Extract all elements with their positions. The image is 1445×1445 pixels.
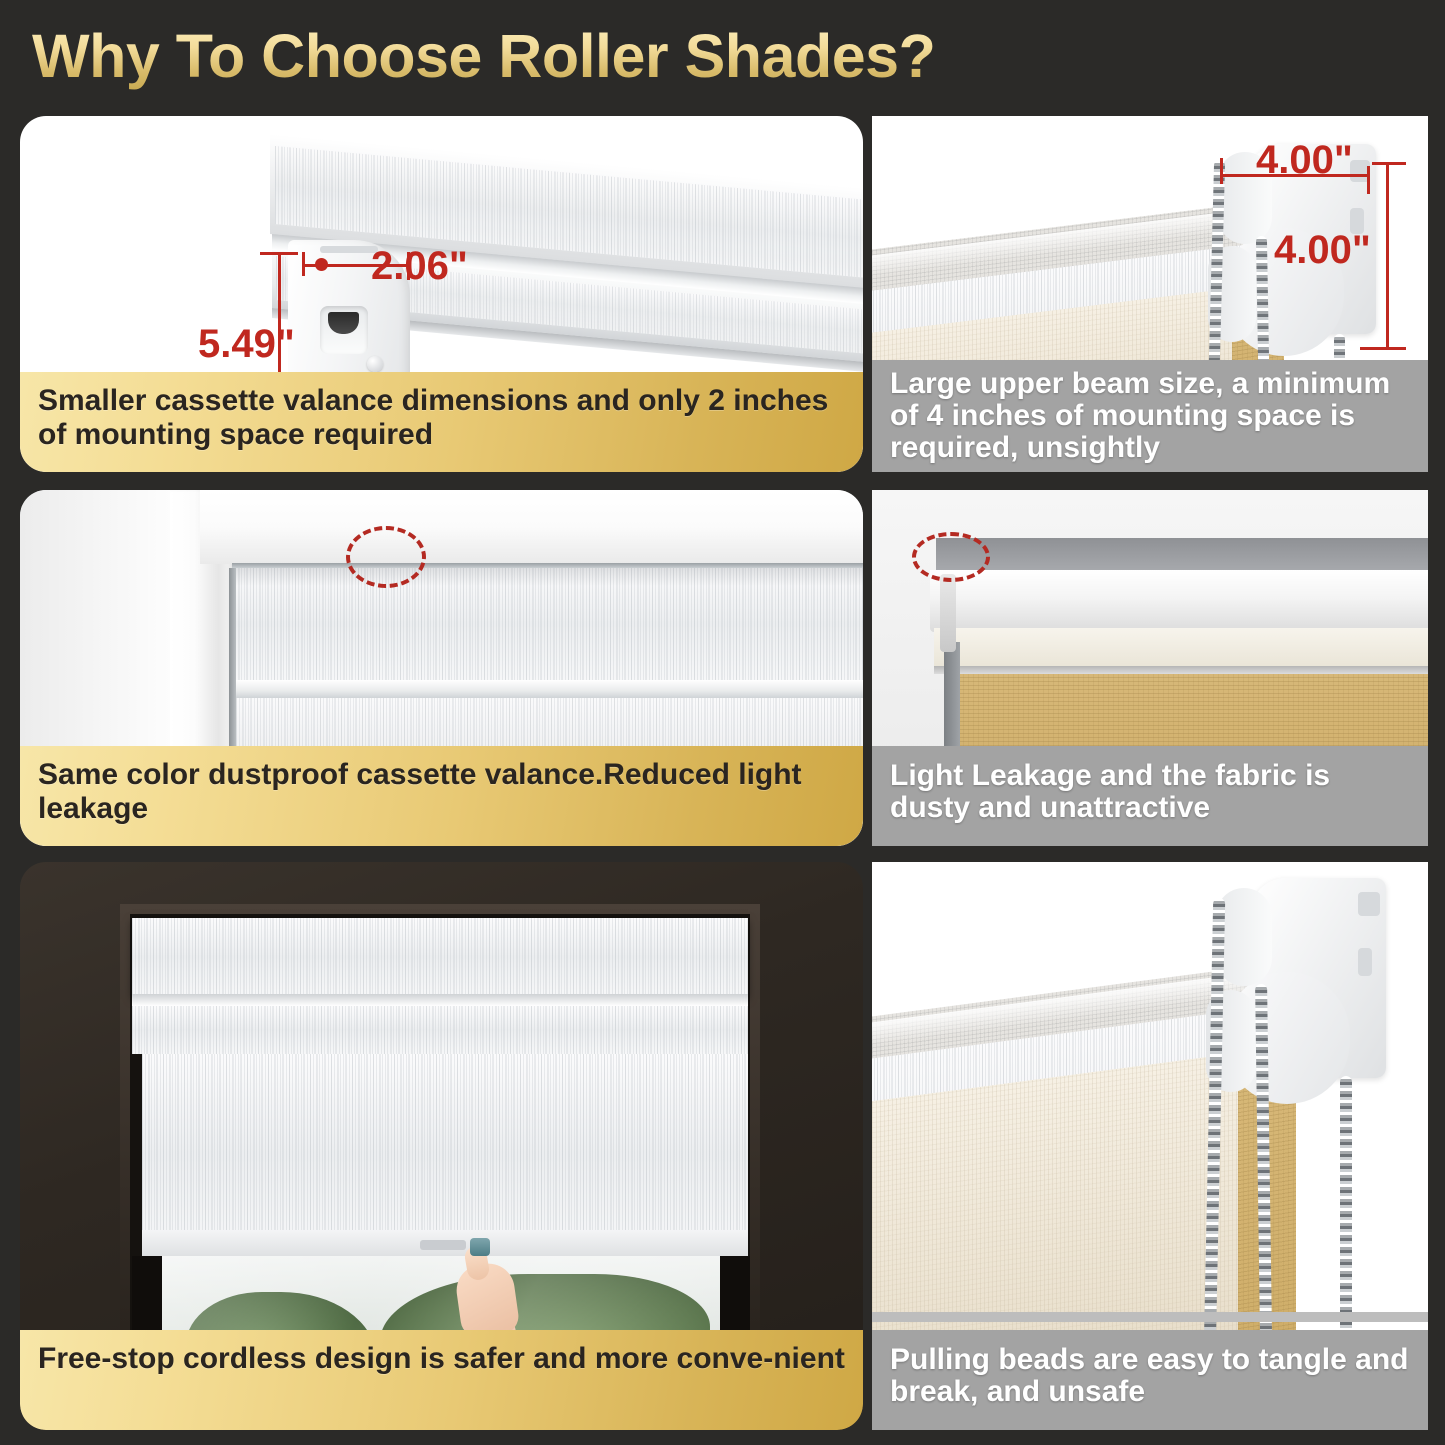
bead-photo-bottom-strip: [872, 1312, 1428, 1322]
panel-large-upper-beam: 4.00" 4.00" Large upper beam size, a min…: [872, 116, 1428, 472]
panel-cassette-valance-dimensions: 5.49" 2.06" Smaller cassette valance dim…: [20, 116, 863, 472]
room-shade-fabric: [142, 1054, 748, 1256]
caption-dustproof-cassette-valance: Same color dustproof cassette valance.Re…: [20, 746, 863, 846]
valance-fabric-groove: [232, 680, 863, 698]
panel-pulling-beads: Pulling beads are easy to tangle and bre…: [872, 862, 1428, 1430]
bead-bracket-notch-mid: [1358, 948, 1372, 976]
width-dimension-tick-left: [302, 252, 305, 276]
beam-height-dimension-label: 4.00": [1274, 228, 1371, 273]
cassette-valance-shadow: [232, 568, 863, 586]
beam-width-dimension-label: 4.00": [1256, 138, 1353, 183]
upper-beam-rail: [930, 570, 1428, 632]
beam-height-dimension-line: [1386, 162, 1389, 350]
height-dimension-tick-top: [260, 252, 298, 255]
caption-large-upper-beam: Large upper beam size, a minimum of 4 in…: [872, 360, 1428, 472]
beam-height-tick-bottom: [1360, 347, 1406, 350]
panel-light-leakage: Large gap Light Leakage and the fabric i…: [872, 490, 1428, 846]
height-dimension-label: 5.49": [198, 322, 295, 367]
page-title: Why To Choose Roller Shades?: [32, 20, 1232, 92]
caption-free-stop-cordless: Free-stop cordless design is safer and m…: [20, 1330, 863, 1430]
window-frame-header: [200, 490, 863, 564]
pull-grip: [470, 1238, 490, 1256]
room-headrail-lower: [132, 1006, 748, 1054]
caption-light-leakage: Light Leakage and the fabric is dusty an…: [872, 746, 1428, 846]
caption-pulling-beads: Pulling beads are easy to tangle and bre…: [872, 1330, 1428, 1430]
beam-width-tick-right: [1367, 166, 1370, 194]
width-dimension-label: 2.06": [371, 244, 468, 289]
tight-fit-ellipse: [346, 526, 426, 588]
beam-lower-facing: [934, 628, 1428, 670]
panel-dustproof-cassette-valance: smaller gap Same color dustproof cassett…: [20, 490, 863, 846]
beam-width-tick-left: [1220, 158, 1223, 184]
room-cassette-headrail: [132, 918, 748, 996]
light-leak-highlight-ellipse: [912, 532, 990, 582]
bracket-nub: [940, 574, 956, 652]
end-cap-top-slot: [320, 246, 378, 253]
beam-height-tick-top: [1372, 162, 1406, 165]
beam-top-shadow: [936, 538, 1428, 574]
caption-cassette-valance-dimensions: Smaller cassette valance dimensions and …: [20, 372, 863, 472]
infographic-root: Why To Choose Roller Shades?: [0, 0, 1445, 1445]
end-cap-screw-upper: [367, 356, 383, 372]
panel-free-stop-cordless: Free-stop cordless design is safer and m…: [20, 862, 863, 1430]
room-headrail-groove: [132, 994, 748, 1006]
beam-bottom-edge: [934, 666, 1428, 674]
bead-bracket-notch-top: [1358, 892, 1380, 916]
room-shade-pull-tab: [420, 1240, 466, 1250]
